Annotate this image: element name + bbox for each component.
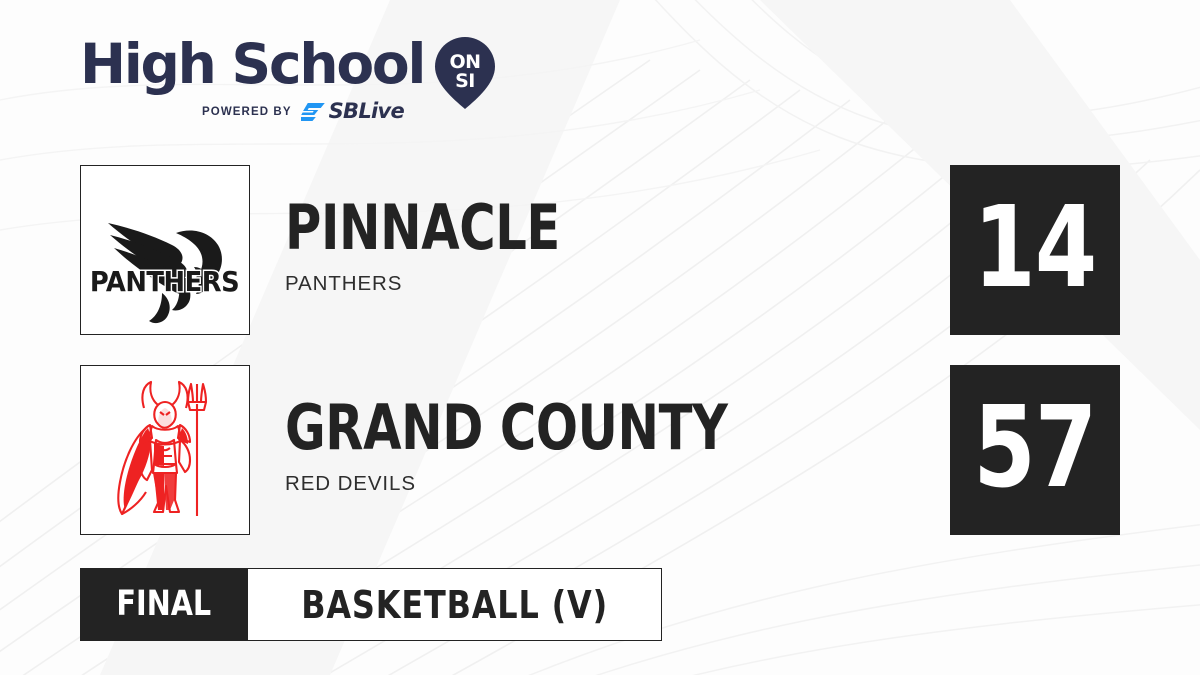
panther-claw-logo: PANTHERS — [90, 175, 240, 325]
team-score: 57 — [973, 392, 1096, 504]
brand-lockup: High School ON SI — [80, 34, 510, 96]
brand-wordmark: High School — [80, 34, 424, 94]
brand-header: High School ON SI POWERED BY SBLive — [80, 34, 510, 134]
team-score: 14 — [973, 192, 1096, 304]
sport-label-box: BASKETBALL (V) — [248, 568, 662, 641]
sblive-logo: SBLive — [301, 101, 404, 122]
team-name: PINNACLE — [285, 197, 797, 259]
game-state-label: FINAL — [116, 587, 211, 622]
team-mascot: PANTHERS — [285, 273, 925, 295]
svg-text:SI: SI — [455, 70, 475, 92]
team-logo-box: PANTHERS — [80, 165, 250, 335]
team-name: GRAND COUNTY — [285, 397, 797, 459]
red-devil-logo — [100, 378, 230, 523]
game-state-badge: FINAL — [80, 568, 248, 641]
team-row: PANTHERS PINNACLE PANTHERS 14 — [80, 165, 1120, 335]
onsi-pin-icon: ON SI — [434, 36, 496, 110]
team-mascot: RED DEVILS — [285, 473, 925, 495]
scoreboard-graphic: High School ON SI POWERED BY SBLive — [0, 0, 1200, 675]
sblive-wordmark: SBLive — [329, 101, 404, 122]
svg-text:PANTHERS: PANTHERS — [90, 266, 239, 298]
team-logo-box — [80, 365, 250, 535]
game-status-bar: FINAL BASKETBALL (V) — [80, 568, 662, 641]
team-score-box: 14 — [950, 165, 1120, 335]
team-text-block: PINNACLE PANTHERS — [285, 197, 925, 295]
sblive-s-icon — [301, 102, 326, 122]
team-row: GRAND COUNTY RED DEVILS 57 — [80, 365, 1120, 535]
team-text-block: GRAND COUNTY RED DEVILS — [285, 397, 925, 495]
powered-by-label: POWERED BY — [202, 106, 292, 118]
sport-label: BASKETBALL (V) — [301, 586, 608, 624]
team-score-box: 57 — [950, 365, 1120, 535]
